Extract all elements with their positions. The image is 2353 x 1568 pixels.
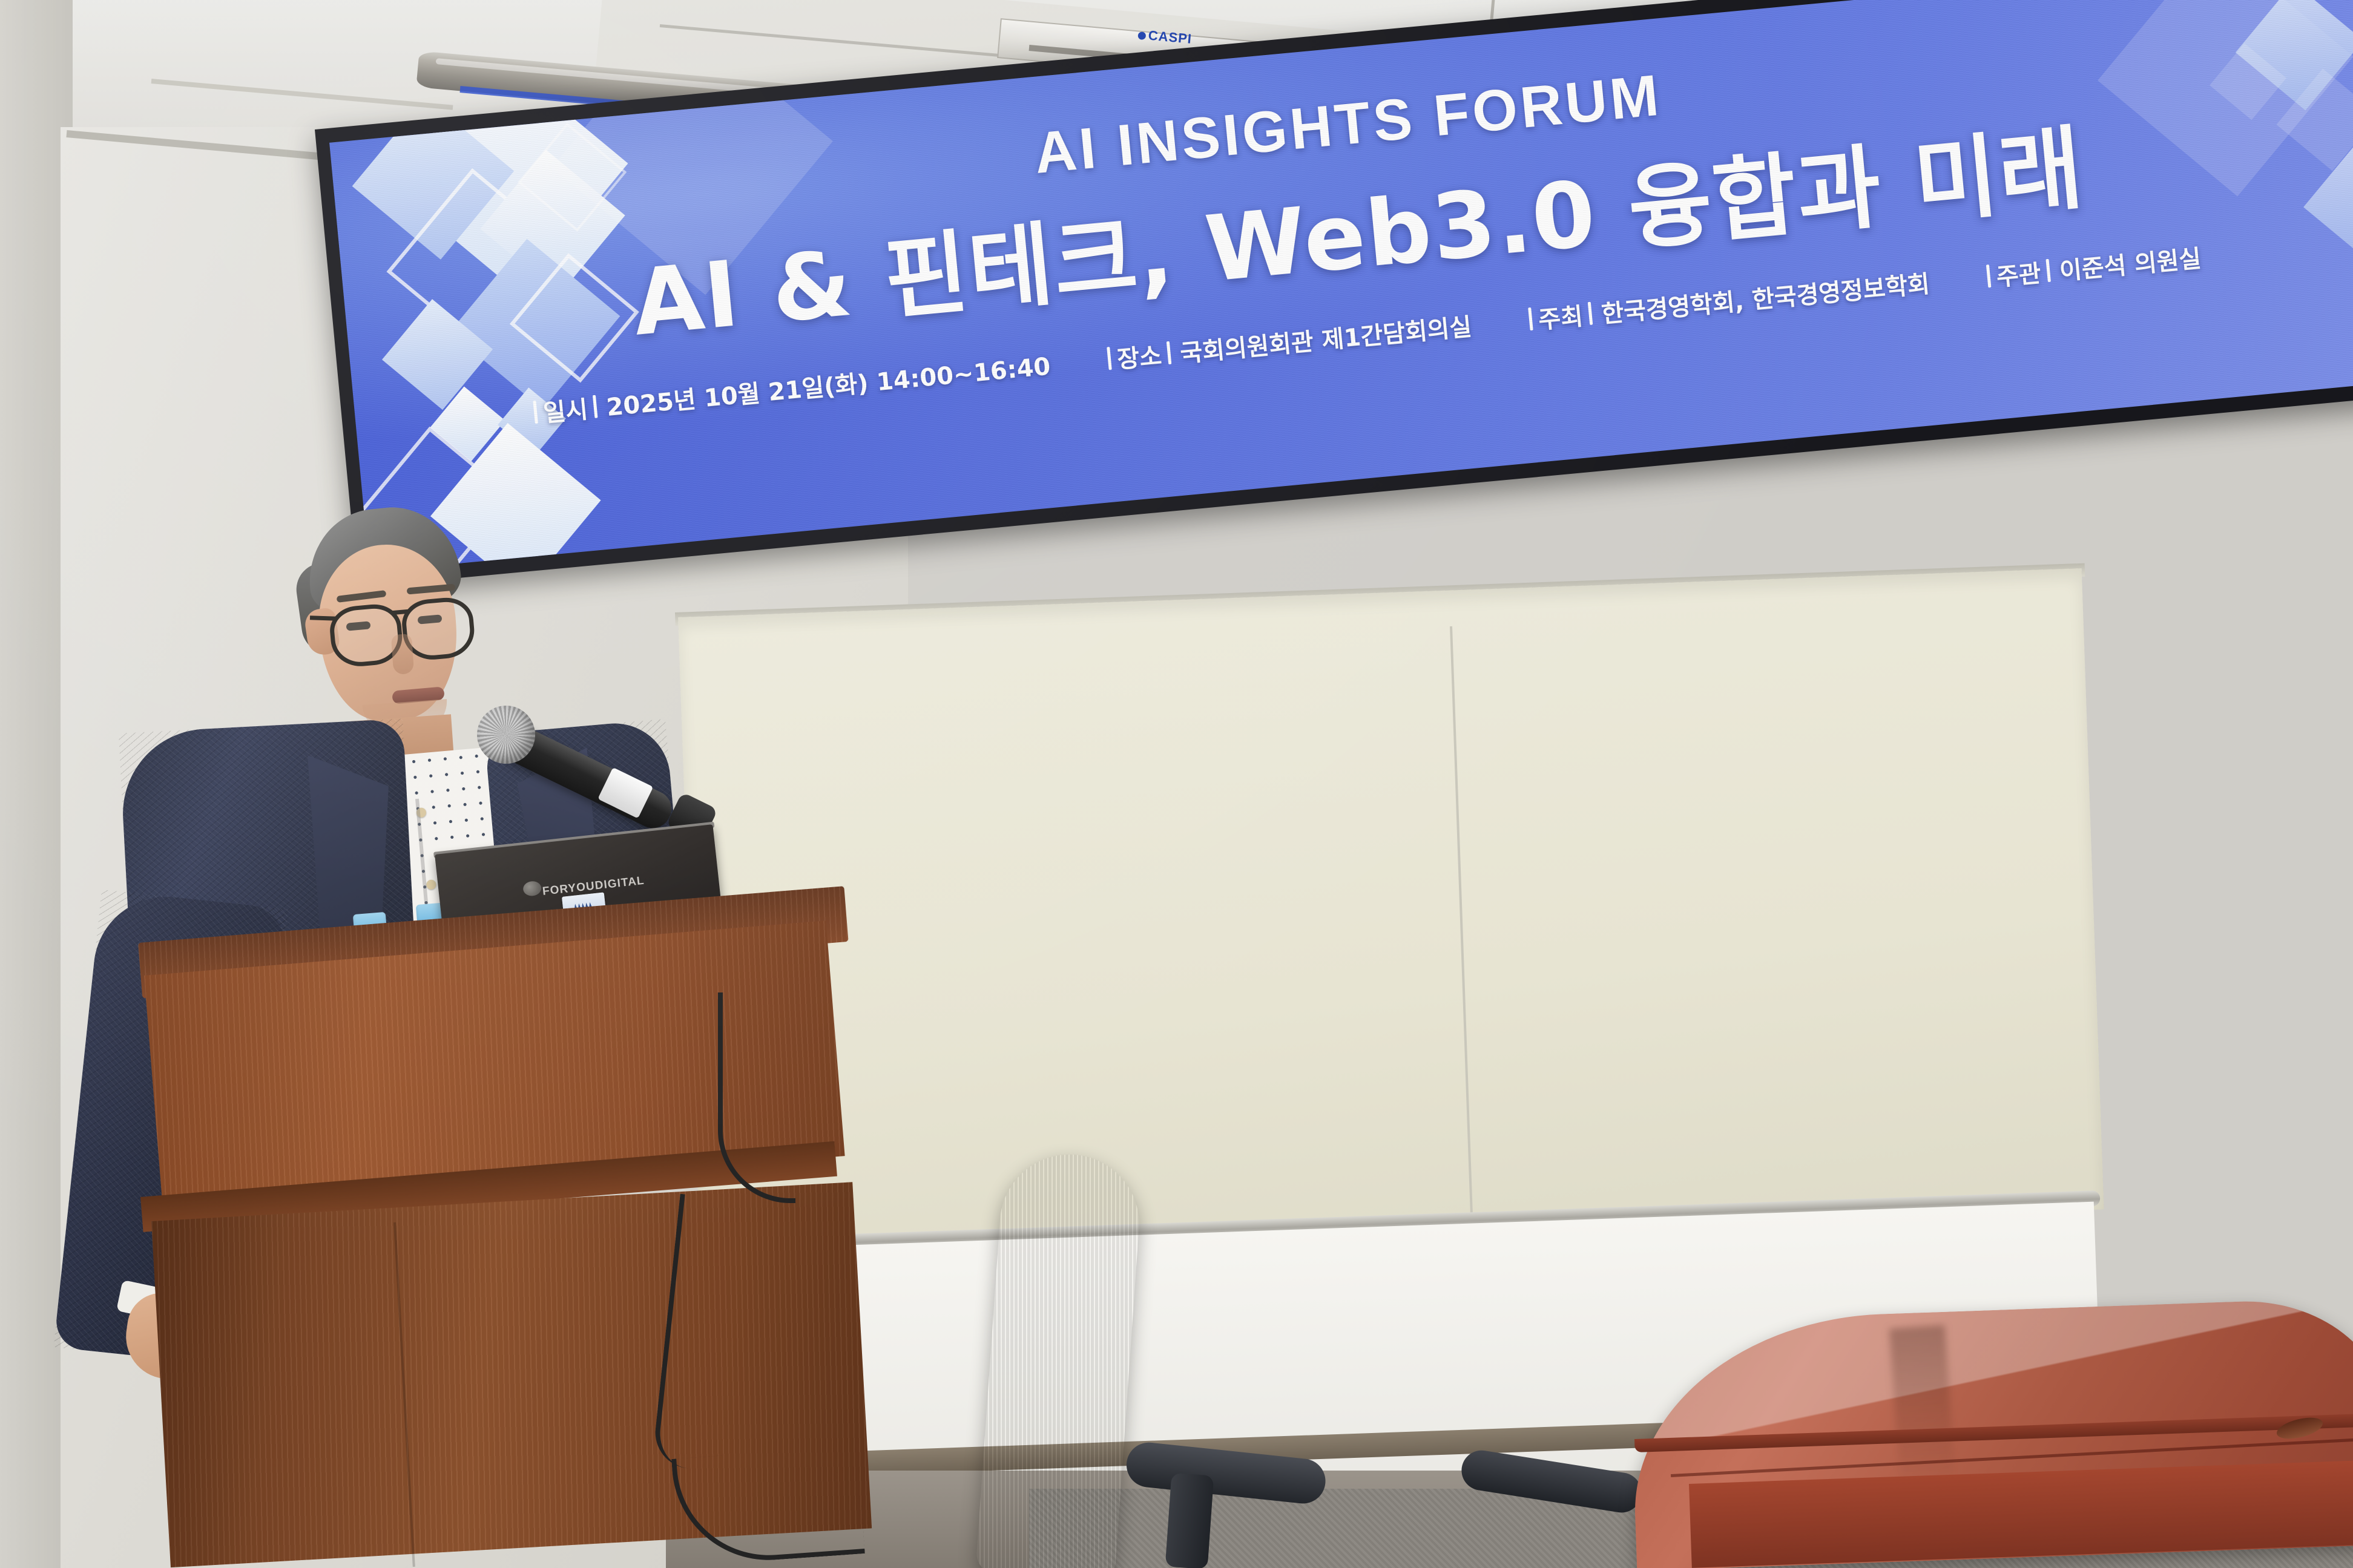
office-chair-back	[975, 1150, 1144, 1568]
pipe-icon	[1167, 341, 1172, 364]
caspi-dot-icon	[1137, 31, 1146, 40]
cream-wall-panel	[678, 568, 2104, 1258]
chair-arm-post	[1165, 1473, 1214, 1568]
speaker-nose	[391, 634, 415, 675]
pipe-icon	[533, 401, 539, 424]
meta-label-wrap: 일시	[533, 389, 599, 430]
pipe-icon	[1107, 347, 1113, 370]
meta-value: 국회의원회관 제1간담회의실	[1179, 307, 1473, 369]
table-reflection	[1889, 1325, 1956, 1492]
pipe-icon	[1986, 264, 1992, 287]
shirt-button	[426, 879, 436, 890]
meta-label: 주최	[1537, 297, 1585, 336]
banner-meta-organizer: 주관 이준석 의원실	[1986, 239, 2202, 294]
eyeglasses-temple	[310, 615, 337, 621]
pipe-icon	[2045, 259, 2051, 282]
meta-label-wrap: 장소	[1107, 335, 1173, 376]
meta-value: 한국경영학회, 한국경영정보학회	[1600, 264, 1931, 330]
pipe-icon	[1529, 307, 1534, 330]
conference-room-photo: CASPI CASPI	[0, 0, 2353, 1568]
meta-value: 이준석 의원실	[2058, 239, 2202, 287]
pipe-icon	[593, 395, 598, 418]
meta-label-wrap: 주관	[1986, 253, 2052, 294]
pipe-icon	[1588, 302, 1593, 325]
banner-meta-host: 주최 한국경영학회, 한국경영정보학회	[1528, 264, 1931, 337]
banner-meta-venue: 장소 국회의원회관 제1간담회의실	[1107, 307, 1473, 376]
meta-label: 일시	[542, 390, 590, 429]
microphone-head[interactable]	[477, 706, 535, 764]
caspi-label: CASPI	[1148, 28, 1193, 47]
meta-label: 주관	[1995, 254, 2042, 293]
meta-label-wrap: 주최	[1528, 296, 1594, 336]
meta-label: 장소	[1116, 336, 1163, 375]
